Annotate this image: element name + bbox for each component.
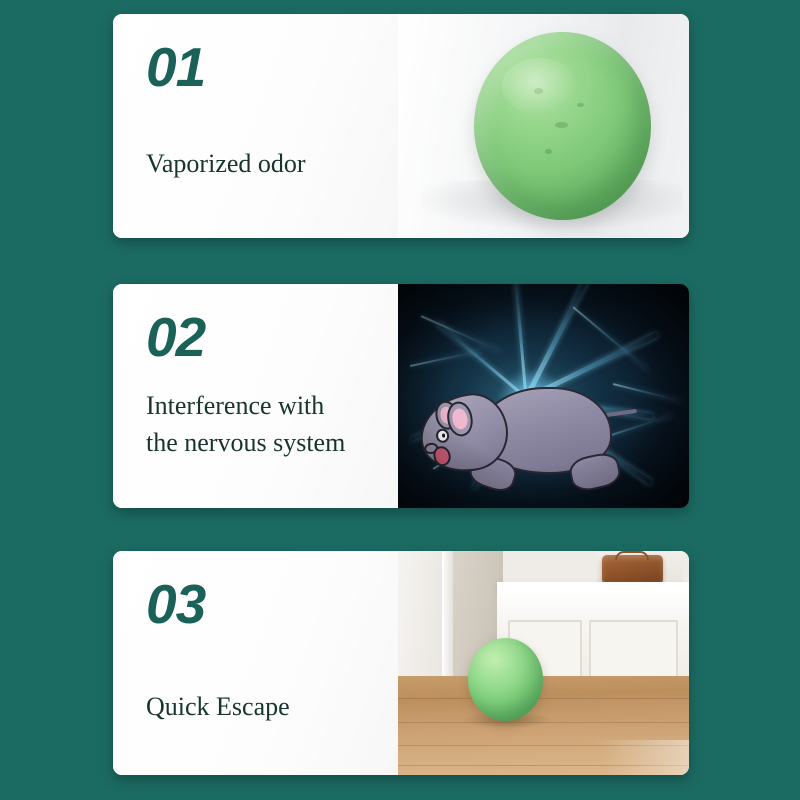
step-card-1-number: 01 — [146, 40, 398, 95]
step-card-2-label-line-2: the nervous system — [146, 425, 392, 462]
step-card-2-label: Interference with the nervous system — [146, 388, 392, 462]
step-card-2-label-line-1: Interference with — [146, 388, 392, 425]
green-ball-icon — [474, 32, 652, 220]
step-card-3-image — [398, 551, 689, 775]
image-vignette — [398, 284, 689, 508]
wooden-floor — [398, 676, 689, 775]
step-card-3-label: Quick Escape — [146, 689, 392, 726]
floor-light-reflection — [567, 740, 689, 775]
step-card-2-image — [398, 284, 689, 508]
step-card-1[interactable]: 01 Vaporized odor — [113, 14, 689, 238]
step-card-2-number: 02 — [146, 310, 398, 365]
infographic-board: 01 Vaporized odor 02 Interference with t… — [0, 0, 800, 800]
step-card-3-text-panel: 03 Quick Escape — [113, 551, 398, 775]
step-card-1-label-line-1: Vaporized odor — [146, 146, 392, 183]
step-card-3[interactable]: 03 Quick Escape — [113, 551, 689, 775]
step-card-1-text-panel: 01 Vaporized odor — [113, 14, 398, 238]
step-card-1-label: Vaporized odor — [146, 146, 392, 183]
step-card-2[interactable]: 02 Interference with the nervous system — [113, 284, 689, 508]
leather-bag-icon — [602, 555, 663, 584]
step-card-3-number: 03 — [146, 577, 398, 632]
step-card-2-text-panel: 02 Interference with the nervous system — [113, 284, 398, 508]
step-card-3-label-line-1: Quick Escape — [146, 689, 392, 726]
green-ball-icon — [468, 638, 544, 721]
step-card-1-image — [398, 14, 689, 238]
